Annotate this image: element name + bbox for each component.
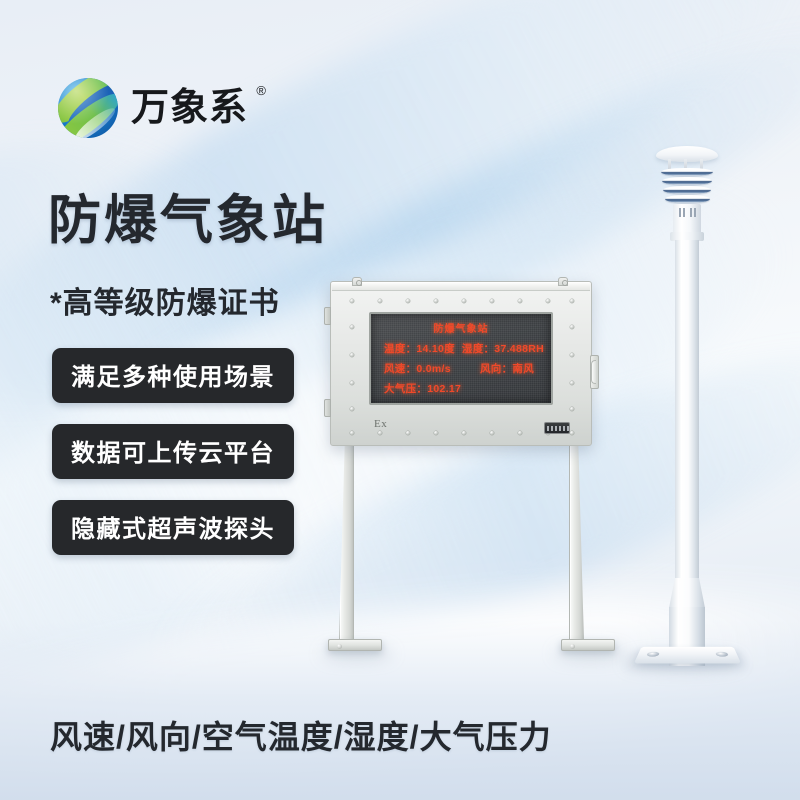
cabinet-bolt [350,431,354,435]
brand-wordmark: 万象系® [131,89,248,127]
cabinet-bolt [570,325,574,329]
page-subtitle: *高等级防爆证书 [50,278,280,322]
page-title: 防爆气象站 [48,192,328,250]
cabinet-bolt [570,299,574,303]
cabinet-bolt [462,431,466,435]
mast-pole-taper [669,578,705,608]
cabinet-bolt [378,299,382,303]
cabinet-bolt [434,431,438,435]
ultrasonic-transducer-housing [673,204,701,234]
cabinet-lug-left [352,277,362,286]
led-row-temperature-humidity: 温度：14.10度 湿度：37.488RH [378,341,544,356]
stand-foot-right [561,639,615,651]
shield-plate [663,186,711,194]
globe-swirl-logo-icon [58,78,118,138]
ultrasonic-weather-sensor-mast [612,146,762,666]
cabinet-bolt [570,407,574,411]
cabinet-bolt [406,431,410,435]
cabinet-hinge-bottom [324,399,331,417]
cabinet-bolt [350,325,354,329]
footer-feature-banner: 风速/风向/空气温度/湿度/大气压力 [50,712,552,758]
transducer-slot [694,208,696,217]
stand-leg-left [339,444,354,643]
flange-bolt-hole [646,652,660,657]
led-row-pressure: 大气压：102.17 [378,381,544,396]
cabinet-bolt [570,381,574,385]
cabinet-bolt [406,299,410,303]
led-value-humidity: 湿度：37.488RH [462,341,544,356]
ex-certification-marking: Ex [374,418,387,430]
led-value-air-pressure: 大气压：102.17 [384,381,480,396]
led-value-temperature: 温度：14.10度 [384,341,462,356]
feature-pill-scenarios: 满足多种使用场景 [52,348,294,403]
cabinet-bolt [518,299,522,303]
cabinet-bolt [350,299,354,303]
base-flange-icon [634,647,741,664]
shield-plate [661,168,713,176]
cabinet-top-lip [332,283,590,291]
feature-pill-hidden-ultrasonic-probe: 隐藏式超声波探头 [52,500,294,555]
feature-pill-cloud-upload: 数据可上传云平台 [52,424,294,479]
cabinet-lug-right [558,277,568,286]
logo-gloss [58,78,118,138]
cabinet-bolt [546,299,550,303]
cabinet-hinge-top [324,307,331,325]
stand-leg-right [569,444,584,643]
registered-trademark-icon: ® [256,84,267,97]
brand-logo: 万象系® [58,78,248,138]
transducer-slot [690,208,692,217]
cabinet-bolt [490,431,494,435]
nameplate-label-icon [544,422,570,434]
led-value-wind-speed: 风速：0.0m/s [384,361,480,376]
led-display-screen: 防爆气象站 温度：14.10度 湿度：37.488RH 风速：0.0m/s 风向… [369,312,553,405]
door-handle-icon [590,355,599,389]
explosion-proof-display-cabinet: 防爆气象站 温度：14.10度 湿度：37.488RH 风速：0.0m/s 风向… [330,281,592,446]
led-display-header: 防爆气象站 [378,320,544,335]
transducer-slot [683,208,685,217]
shield-plate [665,195,710,203]
sensor-top-cap-icon [656,146,718,162]
mast-pole-upper [675,240,699,578]
product-marketing-banner: 万象系® 防爆气象站 *高等级防爆证书 满足多种使用场景 数据可上传云平台 隐藏… [0,0,800,800]
cabinet-bolt [434,299,438,303]
shield-plate [662,177,712,185]
led-value-wind-direction: 风向：南风 [480,361,534,376]
stand-foot-left [328,639,382,651]
cabinet-bolt [462,299,466,303]
radiation-shield-icon [661,168,713,208]
cabinet-bolt [350,407,354,411]
cabinet-bolt [570,353,574,357]
cabinet-bolt [570,431,574,435]
led-row-windspeed-winddirection: 风速：0.0m/s 风向：南风 [378,361,544,376]
cabinet-bolt [350,381,354,385]
feature-list: 满足多种使用场景 数据可上传云平台 隐藏式超声波探头 [52,348,294,555]
cabinet-bolt [518,431,522,435]
cabinet-bolt [490,299,494,303]
handle-bar [591,360,596,384]
transducer-slot [679,208,681,217]
cabinet-bolt [350,353,354,357]
flange-bolt-hole [715,652,729,657]
cabinet-bolt [378,431,382,435]
